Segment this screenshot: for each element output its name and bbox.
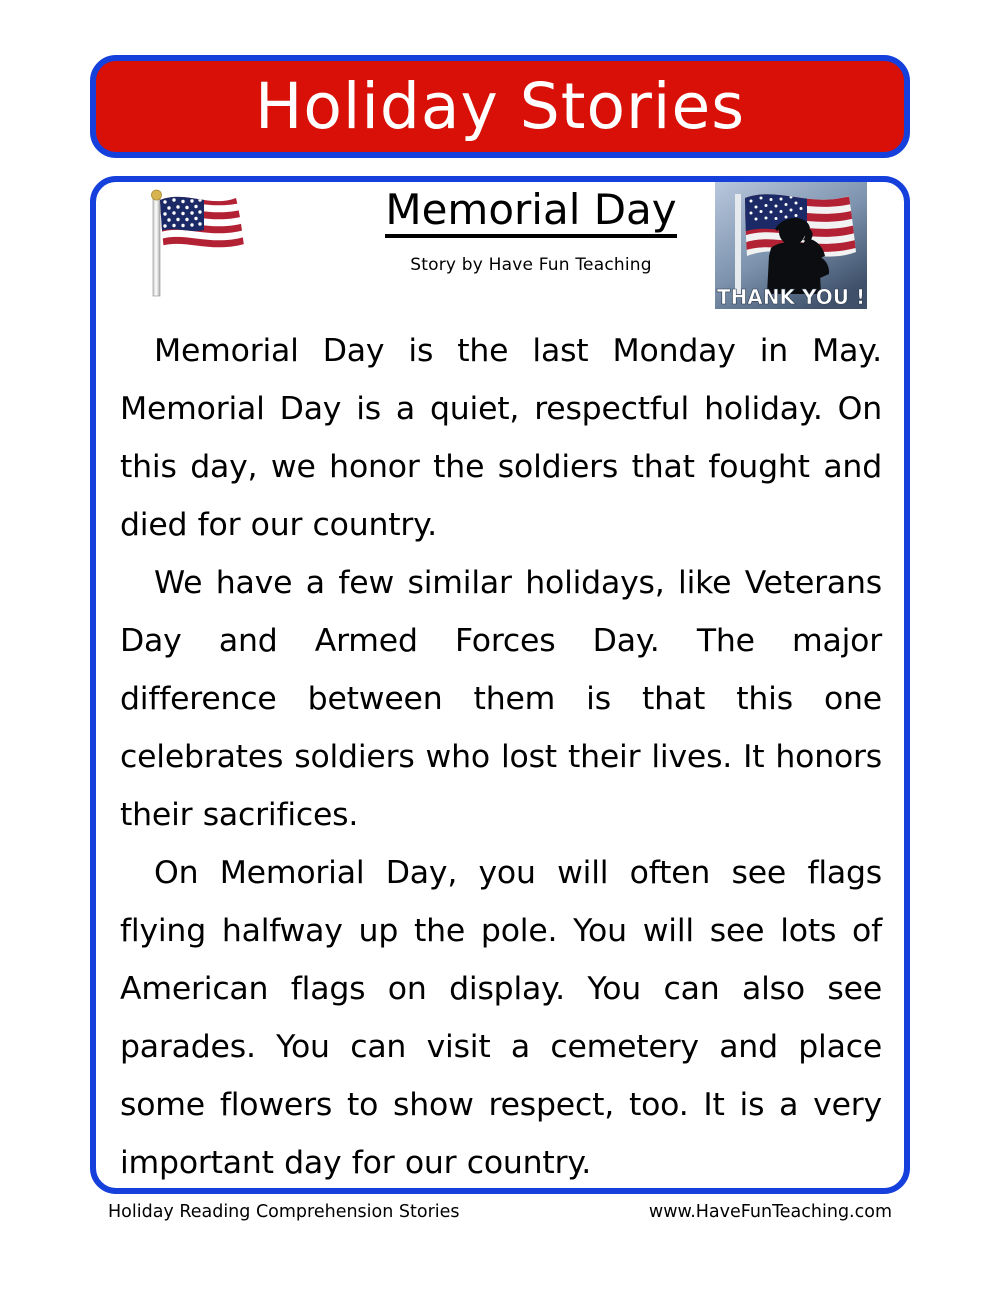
story-paragraph: On Memorial Day, you will often see flag… (120, 844, 882, 1192)
story-card: Memorial Day Story by Have Fun Teaching (90, 176, 910, 1194)
title-block: Memorial Day Story by Have Fun Teaching (316, 188, 746, 275)
story-paragraph: We have a few similar holidays, like Vet… (120, 554, 882, 844)
footer-right-url: www.HaveFunTeaching.com (649, 1202, 892, 1222)
soldier-saluting-flag-icon: THANK YOU ! (715, 182, 867, 309)
footer-left-text: Holiday Reading Comprehension Stories (108, 1202, 460, 1222)
footer: Holiday Reading Comprehension Stories ww… (108, 1202, 892, 1222)
thank-you-caption: THANK YOU ! (717, 285, 865, 309)
american-flag-waving-icon (140, 186, 260, 298)
story-header-row: Memorial Day Story by Have Fun Teaching (96, 182, 904, 322)
story-text: Memorial Day is the last Monday in May. … (96, 322, 904, 1192)
story-subtitle: Story by Have Fun Teaching (316, 255, 746, 275)
story-paragraph: Memorial Day is the last Monday in May. … (120, 322, 882, 554)
header-banner: Holiday Stories (90, 55, 910, 158)
story-title: Memorial Day (385, 188, 676, 238)
page-title: Holiday Stories (255, 75, 745, 138)
